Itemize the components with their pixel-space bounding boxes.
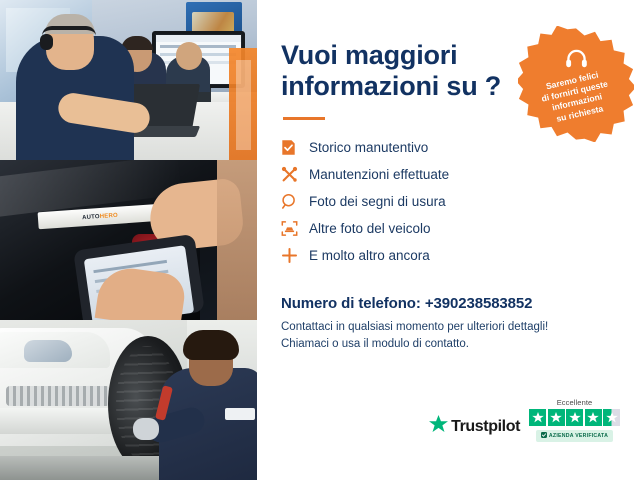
star-filled bbox=[548, 409, 565, 426]
car-grille bbox=[6, 386, 110, 406]
verified-badge: AZIENDA VERIFICATA bbox=[536, 430, 613, 442]
rating-label: Eccellente bbox=[557, 398, 593, 407]
document-check-icon bbox=[281, 139, 307, 156]
mechanic-glove bbox=[133, 418, 159, 440]
feature-list: Storico manutentivo Manutenzioni effettu… bbox=[281, 134, 618, 269]
orange-signage-highlight bbox=[236, 60, 251, 150]
trustpilot-widget[interactable]: Trustpilot Eccellente bbox=[429, 398, 620, 442]
trustpilot-logo: Trustpilot bbox=[429, 415, 520, 442]
list-item: E molto altro ancora bbox=[281, 242, 618, 269]
vehicle-inspection-photo: AUTOHERO bbox=[0, 160, 257, 320]
contact-line-2: Chiamaci o usa il modulo di contatto. bbox=[281, 338, 469, 350]
plus-icon bbox=[281, 247, 307, 264]
inspector-arm bbox=[217, 160, 257, 320]
promo-banner: AUTOHERO bbox=[0, 0, 640, 480]
feature-label: E molto altro ancora bbox=[307, 248, 430, 263]
uniform-logo-patch bbox=[225, 408, 255, 420]
star-filled bbox=[529, 409, 546, 426]
contact-block: Numero di telefono: +390238583852 Contat… bbox=[281, 295, 581, 355]
call-center-agents-photo bbox=[0, 0, 257, 160]
mechanic-tyre-check-photo bbox=[0, 320, 257, 480]
list-item: Foto dei segni di usura bbox=[281, 188, 618, 215]
list-item: Manutenzioni effettuate bbox=[281, 161, 618, 188]
page-title: Vuoi maggiori informazioni su ? bbox=[281, 40, 526, 102]
request-info-badge: Saremo felici di fornirti queste informa… bbox=[518, 26, 634, 142]
magnifier-icon bbox=[281, 193, 307, 210]
list-item: Altre foto del veicolo bbox=[281, 215, 618, 242]
mechanic-hair bbox=[183, 330, 239, 360]
star-half bbox=[603, 409, 620, 426]
trustpilot-star-icon bbox=[429, 415, 448, 438]
star-filled bbox=[585, 409, 602, 426]
feature-label: Altre foto del veicolo bbox=[307, 221, 431, 236]
car-headlight bbox=[24, 340, 72, 362]
feature-label: Manutenzioni effettuate bbox=[307, 167, 449, 182]
photo-column: AUTOHERO bbox=[0, 0, 257, 480]
feature-label: Foto dei segni di usura bbox=[307, 194, 446, 209]
verified-check-icon bbox=[541, 432, 547, 440]
autohero-ruler-logo: AUTOHERO bbox=[82, 212, 118, 220]
trustpilot-brand: Trustpilot bbox=[451, 418, 520, 436]
title-divider bbox=[283, 117, 325, 120]
title-line-2: informazioni su ? bbox=[281, 71, 501, 101]
trustpilot-rating: Eccellente bbox=[529, 398, 620, 442]
title-line-1: Vuoi maggiori bbox=[281, 40, 457, 70]
agent-back-head bbox=[176, 42, 202, 70]
verified-label: AZIENDA VERIFICATA bbox=[549, 433, 608, 439]
car-bumper bbox=[0, 408, 122, 434]
car-scan-icon bbox=[281, 220, 307, 237]
headset-cup bbox=[40, 34, 53, 50]
contact-line-1: Contattaci in qualsiasi momento per ulte… bbox=[281, 321, 548, 333]
contact-description: Contattaci in qualsiasi momento per ulte… bbox=[281, 319, 581, 355]
star-filled bbox=[566, 409, 583, 426]
headset-icon bbox=[565, 48, 588, 74]
tools-cross-icon bbox=[281, 166, 307, 183]
content-panel: Vuoi maggiori informazioni su ? Storico … bbox=[257, 0, 640, 480]
rating-stars bbox=[529, 409, 620, 426]
phone-number[interactable]: Numero di telefono: +390238583852 bbox=[281, 295, 581, 312]
feature-label: Storico manutentivo bbox=[307, 140, 428, 155]
